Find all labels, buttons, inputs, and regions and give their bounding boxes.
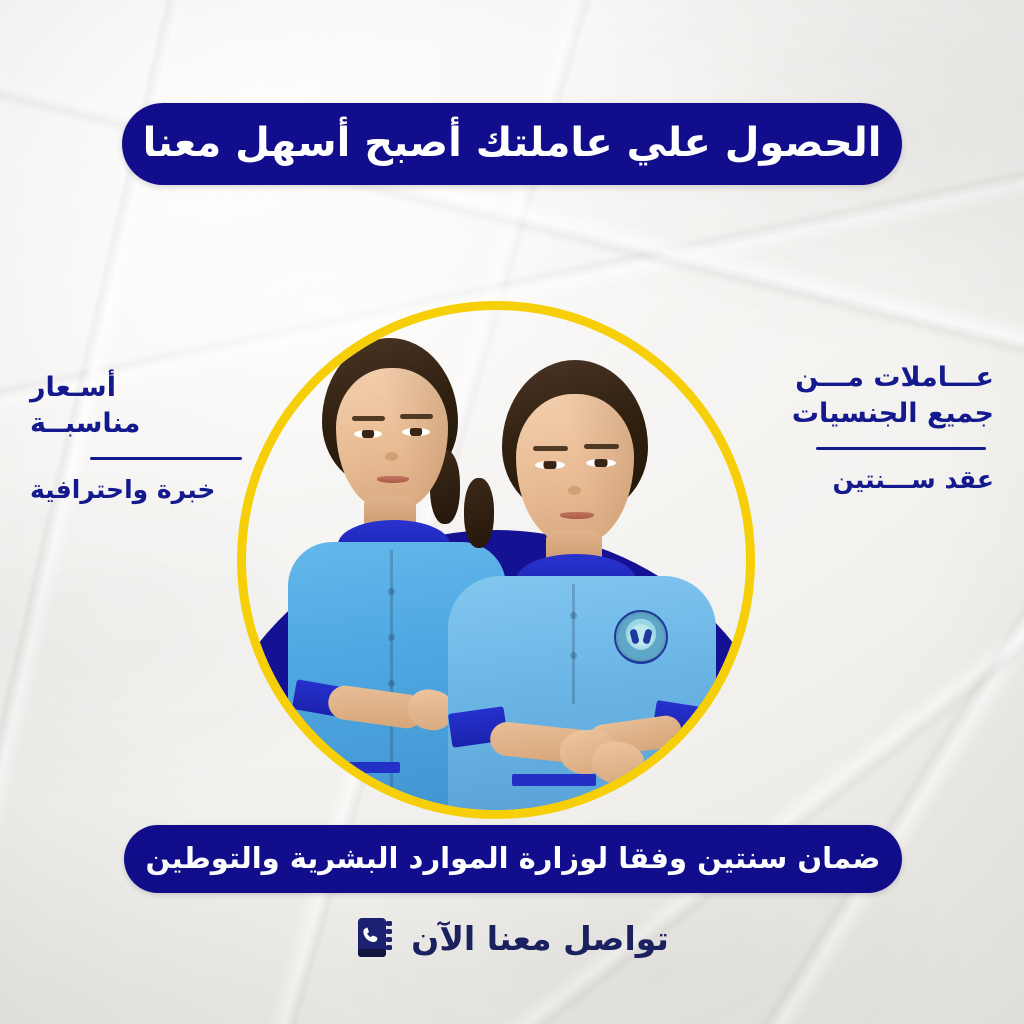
feature-left-1: أسـعار مناسبــة xyxy=(30,370,242,442)
feature-left-1-line1: أسـعار xyxy=(30,370,242,406)
feature-right-1: عـــاملات مـــن جميع الجنسيات xyxy=(754,360,994,432)
photo-medallion xyxy=(237,301,755,819)
contact-label: تواصل معنا الآن xyxy=(411,922,669,955)
feature-right-1-line2: جميع الجنسيات xyxy=(754,396,994,432)
worker-figure-right xyxy=(442,360,724,810)
guarantee-text: ضمان سنتين وفقا لوزارة الموارد البشرية و… xyxy=(146,844,881,875)
headline-text: الحصول علي عاملتك أصبح أسهل معنا xyxy=(143,123,882,166)
features-left: أسـعار مناسبــة خبرة واحترافية xyxy=(30,370,242,507)
agency-badge-icon xyxy=(614,610,668,664)
phone-book-icon xyxy=(355,916,397,960)
headline-banner: الحصول علي عاملتك أصبح أسهل معنا xyxy=(122,103,902,185)
feature-divider-left xyxy=(90,457,242,460)
contact-cta[interactable]: تواصل معنا الآن xyxy=(0,916,1024,960)
advertisement-poster: الحصول علي عاملتك أصبح أسهل معنا أسـعار … xyxy=(0,0,1024,1024)
feature-left-2: خبرة واحترافية xyxy=(30,473,242,507)
features-right: عـــاملات مـــن جميع الجنسيات عقد ســـنت… xyxy=(754,360,994,497)
feature-right-1-line1: عـــاملات مـــن xyxy=(754,360,994,396)
feature-right-2: عقد ســـنتين xyxy=(754,463,994,497)
guarantee-banner: ضمان سنتين وفقا لوزارة الموارد البشرية و… xyxy=(124,825,902,893)
feature-left-1-line2: مناسبــة xyxy=(30,406,242,442)
feature-divider-right xyxy=(816,447,986,450)
